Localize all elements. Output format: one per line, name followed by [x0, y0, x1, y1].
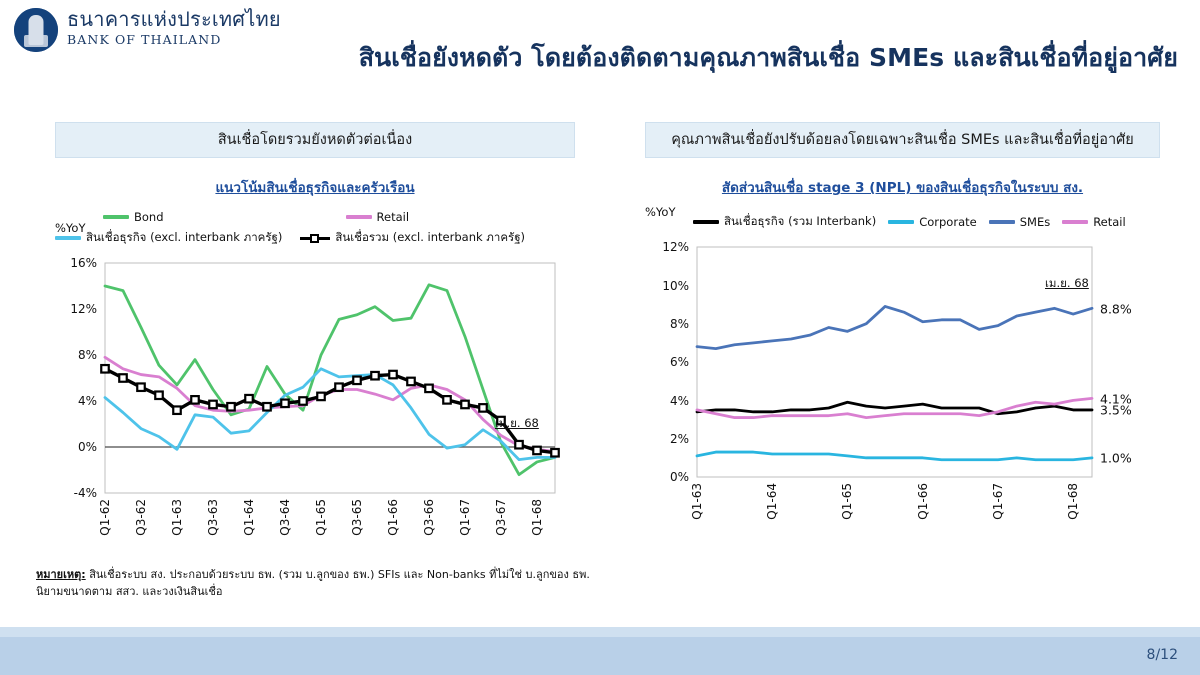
legend-item-corporate: Corporate — [888, 215, 977, 229]
x-axis-tick-label: Q1-67 — [991, 483, 1005, 520]
y-axis-tick-label: -4% — [55, 486, 97, 500]
legend-label-smes: SMEs — [1020, 215, 1050, 229]
x-axis-tick-label: Q1-66 — [916, 483, 930, 520]
right-panel-band: คุณภาพสินเชื่อยังปรับด้อยลงโดยเฉพาะสินเช… — [645, 122, 1160, 158]
right-panel: คุณภาพสินเชื่อยังปรับด้อยลงโดยเฉพาะสินเช… — [645, 122, 1160, 527]
footnote-label: หมายเหตุ: — [36, 568, 86, 581]
org-name-thai: ธนาคารแห่งประเทศไทย — [67, 8, 281, 30]
y-axis-tick-label: 4% — [645, 394, 689, 408]
legend-swatch-retail-npl — [1062, 220, 1088, 224]
series-marker — [461, 401, 469, 409]
legend-swatch-corporate — [888, 220, 914, 224]
slide-header: ธนาคารแห่งประเทศไทย BANK OF THAILAND สิน… — [0, 0, 1200, 100]
npl-share-chart: %YoY0%2%4%6%8%10%12%Q1-63Q1-64Q1-65Q1-66… — [645, 237, 1160, 527]
x-axis-tick-label: Q1-68 — [1066, 483, 1080, 520]
series-marker — [407, 378, 415, 386]
page-number: 8/12 — [1147, 647, 1178, 663]
legend-label-retail: Retail — [377, 210, 410, 224]
x-axis-tick-label: Q1-64 — [765, 483, 779, 520]
legend-swatch-smes — [989, 220, 1015, 224]
series-marker — [389, 371, 397, 379]
x-axis-tick-label: Q1-65 — [840, 483, 854, 520]
series-marker — [119, 375, 127, 383]
legend-item-business-credit: สินเชื่อธุรกิจ (excl. interbank ภาครัฐ) — [55, 229, 282, 247]
series-marker — [317, 393, 325, 401]
series-marker — [245, 395, 253, 403]
org-name-english: BANK OF THAILAND — [67, 32, 281, 47]
x-axis-tick-label: Q3-67 — [494, 499, 508, 536]
y-axis-tick-label: 8% — [645, 317, 689, 331]
legend-swatch-total-credit — [300, 234, 330, 243]
x-axis-tick-label: Q1-67 — [458, 499, 472, 536]
series-end-value-label: 8.8% — [1100, 301, 1132, 316]
x-axis-tick-label: Q3-62 — [134, 499, 148, 536]
series-marker — [479, 404, 487, 412]
left-panel-band: สินเชื่อโดยรวมยังหดตัวต่อเนื่อง — [55, 122, 575, 158]
left-chart-legend: Bond Retail สินเชื่อธุรกิจ (excl. interb… — [55, 210, 575, 247]
y-axis-tick-label: 12% — [55, 302, 97, 316]
footnote-line1: สินเชื่อระบบ สง. ประกอบด้วยระบบ ธพ. (รวม… — [89, 568, 590, 581]
y-axis-tick-label: 0% — [55, 440, 97, 454]
y-axis-tick-label: 10% — [645, 279, 689, 293]
series-end-value-label: 1.0% — [1100, 451, 1132, 466]
series-marker — [101, 365, 109, 373]
series-marker — [155, 392, 163, 400]
x-axis-tick-label: Q3-66 — [422, 499, 436, 536]
legend-label-retail-npl: Retail — [1093, 215, 1126, 229]
series-marker — [353, 377, 361, 385]
series-line-2 — [697, 307, 1092, 349]
y-axis-unit-label: %YoY — [55, 221, 86, 235]
bank-of-thailand-seal-icon — [14, 8, 58, 52]
x-axis-tick-label: Q1-62 — [98, 499, 112, 536]
x-axis-tick-label: Q1-63 — [690, 483, 704, 520]
legend-swatch-retail — [346, 215, 372, 219]
legend-item-retail-npl: Retail — [1062, 215, 1126, 229]
series-marker — [515, 441, 523, 449]
bank-logo: ธนาคารแห่งประเทศไทย BANK OF THAILAND — [14, 8, 281, 52]
left-panel: สินเชื่อโดยรวมยังหดตัวต่อเนื่อง แนวโน้มส… — [55, 122, 575, 543]
legend-swatch-bond — [103, 215, 129, 219]
legend-label-total-credit: สินเชื่อรวม (excl. interbank ภาครัฐ) — [335, 229, 525, 247]
series-marker — [443, 396, 451, 404]
x-axis-tick-label: Q3-65 — [350, 499, 364, 536]
series-marker — [137, 384, 145, 392]
legend-swatch-business-credit-interbank — [693, 220, 719, 224]
plot-frame — [697, 247, 1092, 477]
series-marker — [227, 403, 235, 411]
series-end-value-label: 4.1% — [1100, 391, 1132, 406]
footnote: หมายเหตุ: สินเชื่อระบบ สง. ประกอบด้วยระบ… — [36, 566, 616, 600]
y-axis-tick-label: 12% — [645, 240, 689, 254]
right-chart-subtitle: สัดส่วนสินเชื่อ stage 3 (NPL) ของสินเชื่… — [645, 180, 1160, 196]
series-marker — [281, 400, 289, 408]
series-line-1 — [697, 452, 1092, 460]
right-chart-legend: สินเชื่อธุรกิจ (รวม Interbank) Corporate… — [645, 213, 1160, 231]
series-marker — [263, 403, 271, 411]
legend-item-total-credit: สินเชื่อรวม (excl. interbank ภาครัฐ) — [300, 229, 525, 247]
series-marker — [551, 449, 559, 457]
legend-item-smes: SMEs — [989, 215, 1050, 229]
x-axis-tick-label: Q1-63 — [170, 499, 184, 536]
y-axis-tick-label: 6% — [645, 355, 689, 369]
legend-label-corporate: Corporate — [919, 215, 977, 229]
series-marker — [533, 447, 541, 455]
left-chart-subtitle: แนวโน้มสินเชื่อธุรกิจและครัวเรือน — [55, 180, 575, 196]
legend-item-business-credit-interbank: สินเชื่อธุรกิจ (รวม Interbank) — [693, 213, 876, 231]
x-axis-tick-label: Q1-64 — [242, 499, 256, 536]
x-axis-tick-label: Q1-66 — [386, 499, 400, 536]
legend-item-retail: Retail — [346, 210, 410, 224]
series-marker — [335, 384, 343, 392]
x-axis-tick-label: Q3-64 — [278, 499, 292, 536]
x-axis-tick-label: Q1-68 — [530, 499, 544, 536]
series-marker — [209, 401, 217, 409]
legend-label-business-credit: สินเชื่อธุรกิจ (excl. interbank ภาครัฐ) — [86, 229, 282, 247]
legend-label-business-credit-interbank: สินเชื่อธุรกิจ (รวม Interbank) — [724, 213, 876, 231]
legend-item-bond: Bond — [103, 210, 164, 224]
footnote-line2: นิยามขนาดตาม สสว. และวงเงินสินเชื่อ — [36, 585, 222, 598]
y-axis-tick-label: 8% — [55, 348, 97, 362]
x-axis-tick-label: Q1-65 — [314, 499, 328, 536]
series-marker — [173, 407, 181, 415]
legend-label-bond: Bond — [134, 210, 164, 224]
legend-swatch-business-credit — [55, 236, 81, 240]
slide-footer: 8/12 — [0, 627, 1200, 675]
series-marker — [425, 385, 433, 393]
y-axis-tick-label: 2% — [645, 432, 689, 446]
series-marker — [191, 396, 199, 404]
series-marker — [299, 398, 307, 406]
y-axis-tick-label: 0% — [645, 470, 689, 484]
period-annotation: เม.ย. 68 — [1045, 275, 1089, 293]
y-axis-unit-label: %YoY — [645, 205, 676, 219]
credit-trend-chart: %YoY-4%0%4%8%12%16%Q1-62Q3-62Q1-63Q3-63Q… — [55, 253, 575, 543]
y-axis-tick-label: 16% — [55, 256, 97, 270]
page-title: สินเชื่อยังหดตัว โดยต้องติดตามคุณภาพสินเ… — [359, 38, 1178, 78]
series-marker — [371, 372, 379, 380]
x-axis-tick-label: Q3-63 — [206, 499, 220, 536]
y-axis-tick-label: 4% — [55, 394, 97, 408]
period-annotation: เม.ย. 68 — [495, 415, 539, 433]
